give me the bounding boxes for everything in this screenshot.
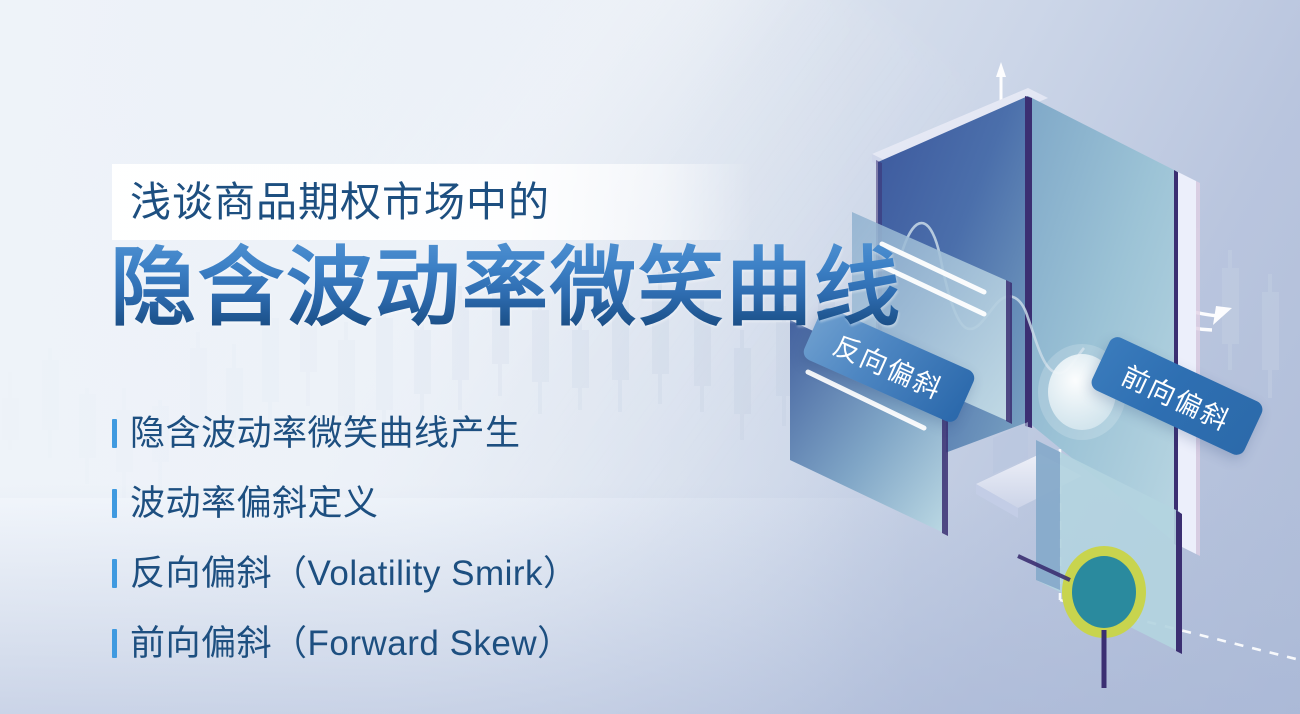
list-item-label: 前向偏斜（Forward Skew） xyxy=(130,626,573,661)
hero-illustration xyxy=(760,40,1300,714)
page-title: 隐含波动率微笑曲线 xyxy=(110,242,902,335)
bullet-marker-icon xyxy=(112,559,117,588)
poster-subtitle: 浅谈商品期权市场中的 xyxy=(112,182,550,223)
list-item[interactable]: 反向偏斜（Volatility Smirk） xyxy=(112,538,732,608)
bullet-marker-icon xyxy=(112,489,117,518)
list-item[interactable]: 隐含波动率微笑曲线产生 xyxy=(112,398,732,468)
poster-canvas: 反向偏斜 前向偏斜 浅谈商品期权市场中的 隐含波动率微笑曲线 隐含波动率微笑曲线… xyxy=(0,0,1300,714)
list-item-label: 波动率偏斜定义 xyxy=(130,486,379,521)
topic-list: 隐含波动率微笑曲线产生 波动率偏斜定义 反向偏斜（Volatility Smir… xyxy=(112,398,732,678)
bullet-marker-icon xyxy=(112,419,117,448)
list-item[interactable]: 前向偏斜（Forward Skew） xyxy=(112,608,732,678)
list-item-label: 反向偏斜（Volatility Smirk） xyxy=(130,556,579,591)
bullet-marker-icon xyxy=(112,629,117,658)
illustration-svg xyxy=(760,40,1300,714)
list-item-label: 隐含波动率微笑曲线产生 xyxy=(130,416,521,451)
subtitle-banner: 浅谈商品期权市场中的 xyxy=(112,164,752,240)
list-item[interactable]: 波动率偏斜定义 xyxy=(112,468,732,538)
